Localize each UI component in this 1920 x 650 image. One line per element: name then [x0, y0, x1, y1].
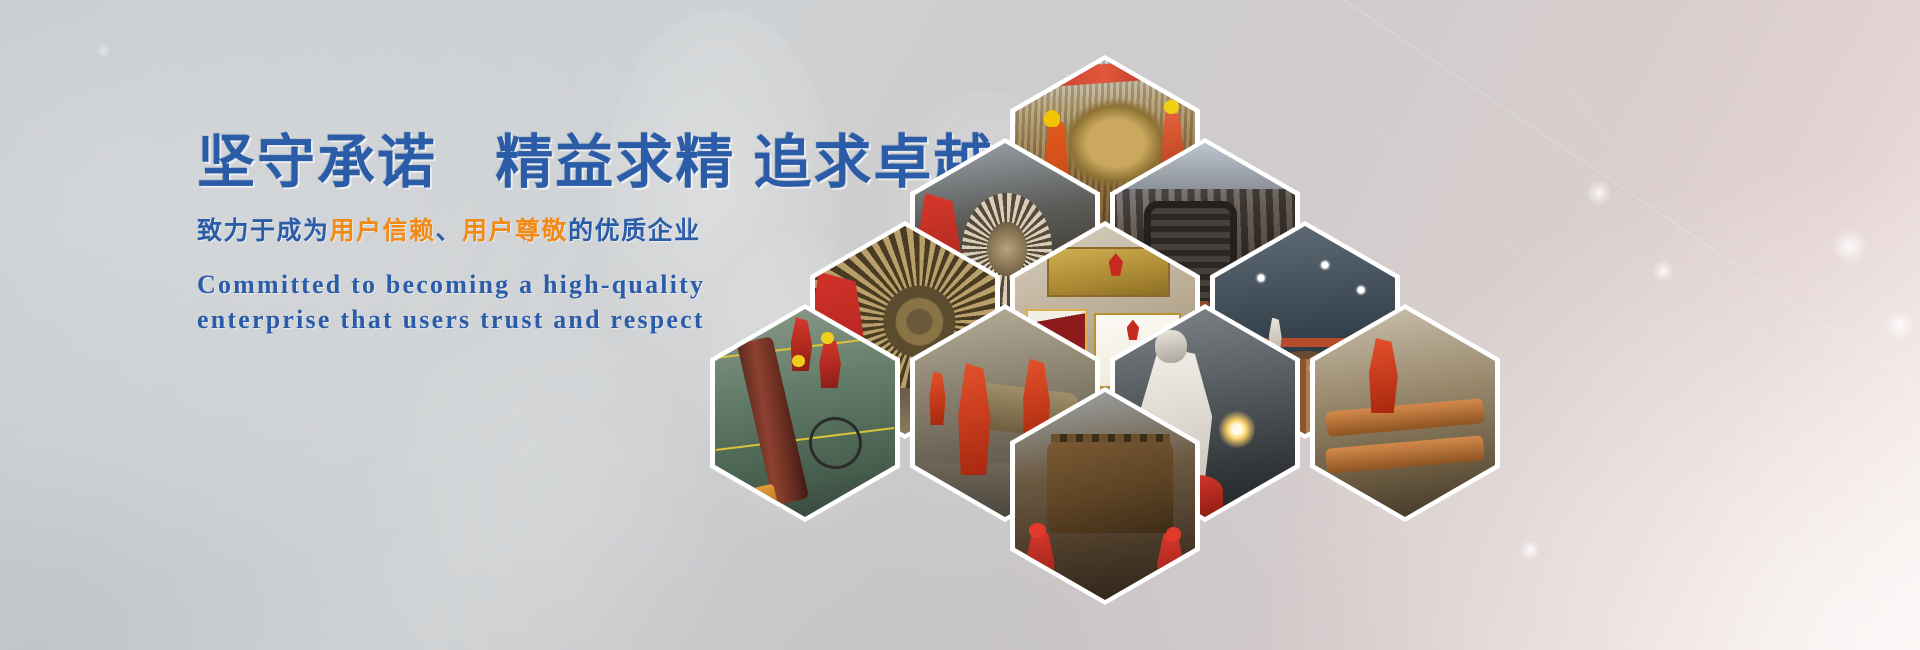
hexagon-photo-collage: [770, 55, 1430, 505]
subtitle-highlight-1: 用户信赖: [330, 217, 436, 245]
hero-banner: 坚守承诺 精益求精 追求卓越 致力于成为用户信赖、用户尊敬的优质企业 Commi…: [0, 0, 1920, 650]
headline-part-1: 坚守承诺: [197, 130, 437, 195]
subtitle-highlight-2: 用户尊敬: [462, 217, 568, 245]
photo-pipe-on-floor: [715, 309, 895, 517]
headline-part-2: 精益求精: [495, 130, 735, 195]
photo-heavy-casting: [1015, 392, 1195, 600]
watermark-shape-4: [340, 330, 760, 650]
photo-pipe-assembly: [1315, 309, 1495, 517]
bokeh-dot-4: [1884, 310, 1914, 340]
bokeh-dot-7: [96, 44, 110, 58]
bokeh-dot-3: [1652, 260, 1674, 282]
subtitle-segment-1: 致力于成为: [197, 217, 330, 245]
subtitle-separator: 、: [436, 217, 463, 245]
bokeh-dot-2: [1832, 228, 1868, 264]
bokeh-dot-1: [1586, 180, 1612, 206]
subtitle-segment-5: 的优质企业: [568, 217, 701, 245]
bokeh-dot-5: [1520, 540, 1540, 560]
light-streak-2: [1499, 0, 1920, 600]
